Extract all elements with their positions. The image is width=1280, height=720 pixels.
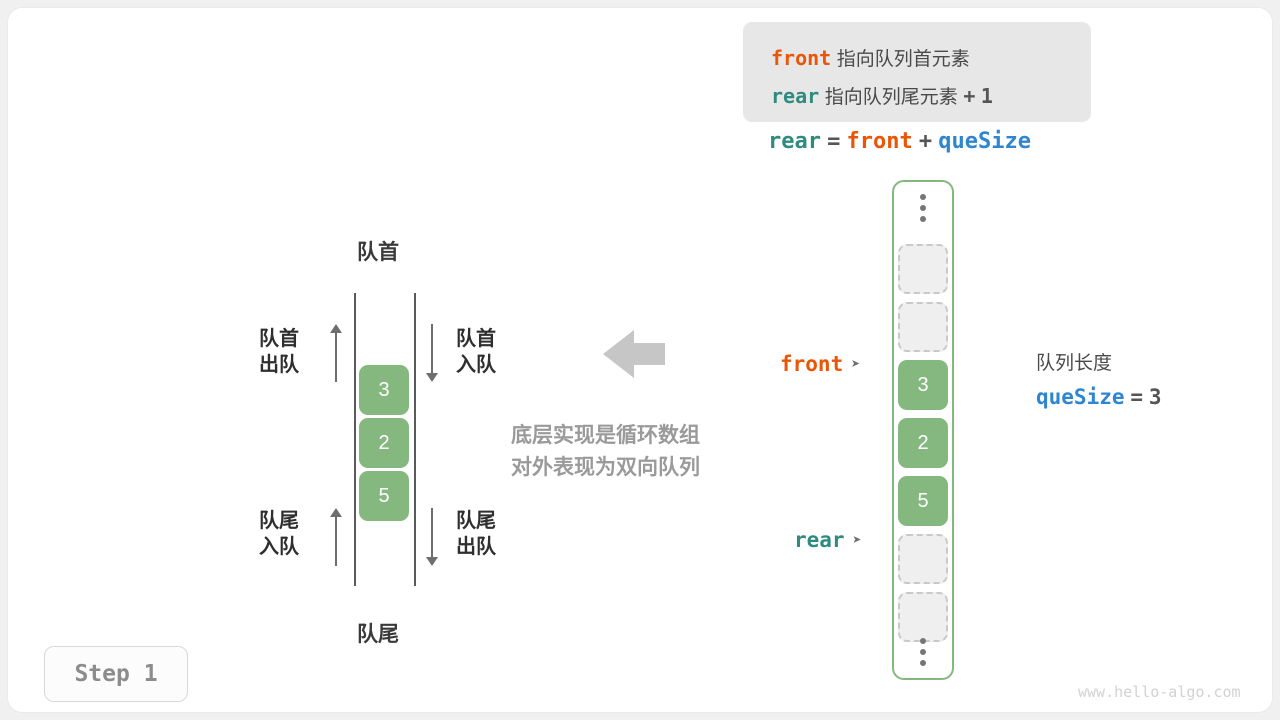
front-pointer-label: front➤ <box>780 352 860 376</box>
quesize-title: 队列长度 <box>1036 348 1162 375</box>
array-cell-2: 3 <box>898 360 948 410</box>
op-label-tail-enqueue: 队尾入队 <box>259 508 299 561</box>
formula-rear: rear <box>768 129 821 154</box>
implementation-note-line1: 底层实现是循环数组 <box>511 420 700 452</box>
diagram-canvas: front 指向队列首元素 rear 指向队列尾元素 + 1 rear = fr… <box>8 8 1272 712</box>
legend-rear-plus: + <box>963 84 975 108</box>
array-cell-3: 2 <box>898 418 948 468</box>
tail-dequeue-arrow-down-icon <box>425 508 439 566</box>
array-cell-5 <box>898 534 948 584</box>
front-pointer-text: front <box>780 352 843 376</box>
op-label-tail-dequeue: 队尾出队 <box>456 508 496 561</box>
legend-rear-name: rear <box>771 84 819 108</box>
quesize-name: queSize <box>1036 385 1125 409</box>
head-dequeue-arrow-up-icon <box>329 324 343 382</box>
deque-cell-0: 3 <box>359 365 409 415</box>
array-cell-4: 5 <box>898 476 948 526</box>
formula-quesize: queSize <box>938 129 1031 154</box>
circular-array-container: 3 2 5 <box>892 180 954 680</box>
legend-front-desc: 指向队列首元素 <box>837 49 970 70</box>
deque-guideline-left <box>354 293 356 586</box>
array-cell-1 <box>898 302 948 352</box>
formula-front: front <box>846 129 912 154</box>
vertical-ellipsis-top-icon <box>920 194 926 227</box>
step-badge: Step 1 <box>44 646 188 702</box>
legend-rear-one: 1 <box>981 84 993 108</box>
deque-head-label: 队首 <box>357 236 399 266</box>
rear-pointer-label: rear➤ <box>794 528 862 552</box>
op-label-head-dequeue: 队首出队 <box>259 326 299 379</box>
formula-equals: = <box>827 129 840 154</box>
watermark: www.hello-algo.com <box>1078 683 1241 701</box>
front-pointer-arrow-icon: ➤ <box>851 355 860 373</box>
deque-tail-label: 队尾 <box>357 618 399 648</box>
array-cell-0 <box>898 244 948 294</box>
op-label-head-enqueue: 队首入队 <box>456 326 496 379</box>
rear-pointer-arrow-icon: ➤ <box>853 531 862 549</box>
array-cell-6 <box>898 592 948 642</box>
quesize-annotation: 队列长度 queSize = 3 <box>1036 348 1162 410</box>
formula-plus: + <box>919 129 932 154</box>
implementation-note-line2: 对外表现为双向队列 <box>511 452 700 484</box>
quesize-expression: queSize = 3 <box>1036 385 1162 410</box>
rear-pointer-text: rear <box>794 528 845 552</box>
legend-line-front: front 指向队列首元素 <box>771 44 970 71</box>
formula-rear-equals-front-plus-quesize: rear = front + queSize <box>768 128 1031 154</box>
left-pointing-big-arrow-icon <box>603 330 665 378</box>
legend-front-name: front <box>771 46 831 70</box>
quesize-value: 3 <box>1149 385 1162 409</box>
implementation-note: 底层实现是循环数组 对外表现为双向队列 <box>511 420 700 484</box>
deque-guideline-right <box>414 293 416 586</box>
head-enqueue-arrow-down-icon <box>425 324 439 382</box>
deque-cell-1: 2 <box>359 418 409 468</box>
vertical-ellipsis-bottom-icon <box>920 638 926 671</box>
legend-rear-desc: 指向队列尾元素 <box>825 87 958 108</box>
deque-cell-2: 5 <box>359 471 409 521</box>
legend-line-rear: rear 指向队列尾元素 + 1 <box>771 82 993 109</box>
quesize-equals: = <box>1130 385 1143 409</box>
pointer-legend-box: front 指向队列首元素 rear 指向队列尾元素 + 1 <box>743 22 1091 122</box>
tail-enqueue-arrow-up-icon <box>329 508 343 566</box>
